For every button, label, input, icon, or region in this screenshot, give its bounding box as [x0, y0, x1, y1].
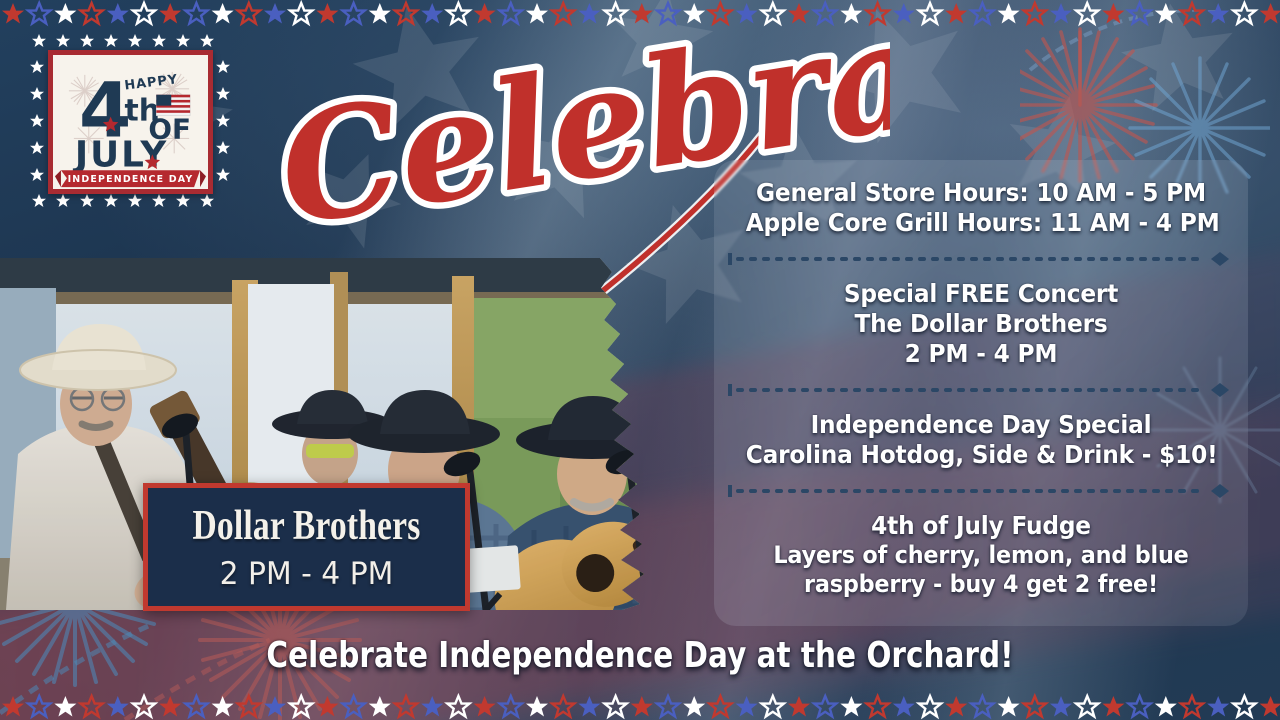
border-star [1207, 3, 1229, 24]
border-star [212, 696, 234, 717]
border-star [919, 696, 941, 717]
border-star [631, 3, 653, 24]
border-star [447, 3, 469, 24]
border-star [1102, 696, 1124, 717]
border-star [421, 3, 443, 24]
border-star [316, 3, 338, 24]
border-star [867, 696, 889, 717]
border-star [81, 696, 103, 717]
fourth-of-july-badge: 4 th HAPPY OF JULY [27, 32, 234, 210]
border-star [683, 696, 705, 717]
border-star [971, 3, 993, 24]
border-star [1181, 3, 1203, 24]
border-star [1129, 3, 1151, 24]
concert-time-line: 2 PM - 4 PM [746, 339, 1217, 369]
celebrate-headline: .scr{ font-family:"DejaVu Serif", serif;… [270, 18, 890, 248]
us-flag-icon [156, 95, 190, 116]
divider-1 [728, 251, 1234, 267]
border-star [1233, 3, 1255, 24]
border-star [28, 3, 50, 24]
border-star [971, 696, 993, 717]
border-star [212, 3, 234, 24]
border-star [395, 3, 417, 24]
badge-july: JULY [73, 134, 168, 175]
border-star [1102, 3, 1124, 24]
border-star [893, 3, 915, 24]
border-star [945, 696, 967, 717]
divider-3 [728, 483, 1234, 499]
info-block-food-special: Independence Day Special Carolina Hotdog… [728, 410, 1234, 470]
border-star [316, 696, 338, 717]
border-star [369, 3, 391, 24]
border-star [369, 696, 391, 717]
border-star [290, 696, 312, 717]
border-star [552, 3, 574, 24]
info-block-fudge-special: 4th of July Fudge Layers of cherry, lemo… [728, 511, 1234, 599]
border-star [631, 696, 653, 717]
border-star [500, 3, 522, 24]
celebrate-fill: Celebrate! [270, 18, 890, 248]
border-star [1076, 696, 1098, 717]
border-star [605, 696, 627, 717]
border-star [788, 3, 810, 24]
info-block-concert: Special FREE Concert The Dollar Brothers… [728, 279, 1234, 369]
border-star [264, 3, 286, 24]
border-star [814, 696, 836, 717]
badge-inner-card: 4 th HAPPY OF JULY [53, 55, 208, 189]
border-star [107, 3, 129, 24]
border-star [1050, 3, 1072, 24]
border-star [421, 696, 443, 717]
border-star [474, 696, 496, 717]
border-star [657, 3, 679, 24]
border-star [919, 3, 941, 24]
food-special-title-line: Independence Day Special [746, 410, 1217, 440]
border-star [185, 696, 207, 717]
border-star [840, 696, 862, 717]
border-star [343, 696, 365, 717]
poster-canvas: .scr{ font-family:"DejaVu Serif", serif;… [0, 0, 1280, 720]
concert-title-line: Special FREE Concert [746, 279, 1217, 309]
border-star [736, 696, 758, 717]
border-star [893, 696, 915, 717]
artist-time: 2 PM - 4 PM [220, 559, 394, 590]
border-star [1207, 696, 1229, 717]
border-star [578, 696, 600, 717]
border-star [945, 3, 967, 24]
border-star [28, 696, 50, 717]
border-star [1233, 696, 1255, 717]
badge-red-frame: 4 th HAPPY OF JULY [48, 50, 213, 194]
concert-artist-line: The Dollar Brothers [746, 309, 1217, 339]
border-star [657, 696, 679, 717]
badge-ribbon: INDEPENDENCE DAY [55, 170, 206, 187]
border-star [1129, 696, 1151, 717]
border-star [343, 3, 365, 24]
border-star [2, 696, 24, 717]
border-star [1181, 696, 1203, 717]
fudge-detail-line-1: Layers of cherry, lemon, and blue [746, 541, 1217, 570]
bottom-tagline: Celebrate Independence Day at the Orchar… [115, 638, 1165, 674]
border-star [814, 3, 836, 24]
border-star [264, 696, 286, 717]
border-star [395, 696, 417, 717]
border-star [474, 3, 496, 24]
badge-artwork: 4 th HAPPY OF JULY [53, 55, 208, 189]
border-star [762, 3, 784, 24]
border-star [159, 696, 181, 717]
food-special-detail-line: Carolina Hotdog, Side & Drink - $10! [746, 440, 1217, 470]
border-star [526, 3, 548, 24]
border-star [500, 696, 522, 717]
star-border-bottom [0, 692, 1280, 720]
border-star [1076, 3, 1098, 24]
border-star [54, 696, 76, 717]
border-star [526, 696, 548, 717]
star-border-top [0, 0, 1280, 28]
border-star [762, 696, 784, 717]
border-star [552, 696, 574, 717]
border-star [1155, 696, 1177, 717]
fudge-detail-line-2: raspberry - buy 4 get 2 free! [746, 570, 1217, 599]
border-star [998, 696, 1020, 717]
border-star [133, 696, 155, 717]
border-star [578, 3, 600, 24]
border-star [709, 3, 731, 24]
border-star [1024, 696, 1046, 717]
border-star [840, 3, 862, 24]
border-star [605, 3, 627, 24]
border-star [1155, 3, 1177, 24]
border-star [81, 3, 103, 24]
border-star [709, 696, 731, 717]
artist-name: Dollar Brothers [193, 505, 421, 547]
border-star [54, 3, 76, 24]
border-star [133, 3, 155, 24]
border-star [238, 3, 260, 24]
divider-2 [728, 382, 1234, 398]
border-star [1050, 696, 1072, 717]
border-star [1260, 3, 1280, 24]
badge-ribbon-text: INDEPENDENCE DAY [68, 174, 194, 185]
border-star [736, 3, 758, 24]
border-star [1024, 3, 1046, 24]
border-star [788, 696, 810, 717]
artist-card: Dollar Brothers 2 PM - 4 PM [143, 483, 470, 611]
border-star [867, 3, 889, 24]
fudge-title-line: 4th of July Fudge [746, 511, 1217, 541]
border-star [238, 696, 260, 717]
border-star [185, 3, 207, 24]
border-star [998, 3, 1020, 24]
border-star [447, 696, 469, 717]
border-star [107, 696, 129, 717]
border-star [1260, 696, 1280, 717]
border-star [290, 3, 312, 24]
border-star [683, 3, 705, 24]
border-star [2, 3, 24, 24]
border-star [159, 3, 181, 24]
